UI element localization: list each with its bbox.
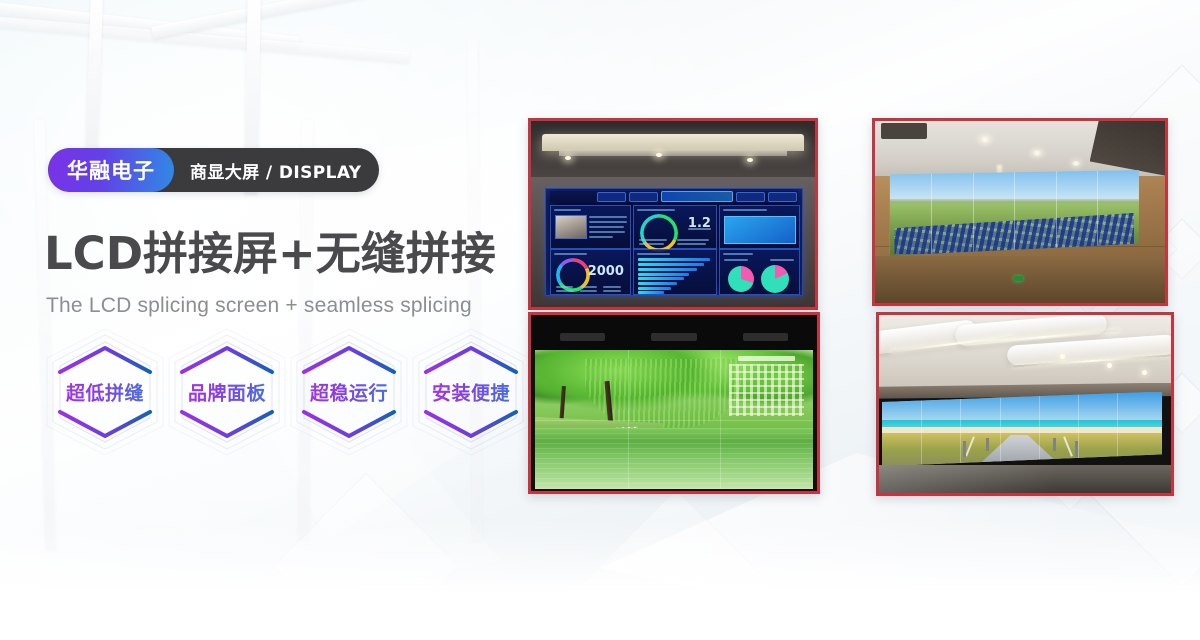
feature-badge-label: 安装便捷 <box>412 379 530 406</box>
feature-badge-1[interactable]: 品牌面板 <box>168 332 286 452</box>
banner-stage: 华融电子 商显大屏 / DISPLAY LCD拼接屏+无缝拼接 The LCD … <box>0 0 1200 640</box>
brand-name: 华融电子 <box>48 148 174 192</box>
ceiling-downlight-2 <box>1107 363 1112 368</box>
photo-beach-boardwalk-video-wall[interactable] <box>876 312 1174 496</box>
feature-badge-2[interactable]: 超稳运行 <box>290 332 408 452</box>
floor-reflection <box>879 465 1171 493</box>
dashboard-panel-bars <box>633 249 717 294</box>
screen-water-ripples <box>535 428 812 489</box>
display-top-bezel <box>531 315 817 352</box>
ceiling-downlight-2 <box>656 153 662 157</box>
feature-badge-0[interactable]: 超低拼缝 <box>46 332 164 452</box>
dashboard-panel-pie: 2000 <box>550 249 631 294</box>
brand-pill: 华融电子 商显大屏 / DISPLAY <box>48 148 379 192</box>
feature-badge-row: 超低拼缝 品牌面板 <box>46 332 530 452</box>
exit-sign-icon <box>1014 276 1023 281</box>
feature-badge-label: 超稳运行 <box>290 379 408 406</box>
ceiling-downlight-3 <box>1142 370 1147 375</box>
display-screen <box>535 350 812 489</box>
background-bottom-fade <box>0 520 1200 640</box>
page-subtitle: The LCD splicing screen + seamless splic… <box>46 294 472 318</box>
feature-badge-3[interactable]: 安装便捷 <box>412 332 530 452</box>
dashboard-screen: 1.2 2000 <box>545 188 803 296</box>
brand-tagline: 商显大屏 / DISPLAY <box>174 148 379 192</box>
screen-calendar-overlay <box>729 356 804 417</box>
page-title: LCD拼接屏+无缝拼接 <box>44 228 496 280</box>
feature-badge-label: 品牌面板 <box>168 379 286 406</box>
ceiling-spot-1 <box>979 136 991 143</box>
dashboard-panel-flow <box>719 205 800 249</box>
video-wall-screen <box>890 170 1139 256</box>
photo-solar-farm-video-wall[interactable] <box>872 118 1168 306</box>
dashboard-panel-donut: 1.2 <box>633 205 717 249</box>
dashboard-header <box>550 191 798 203</box>
photo-control-room-dashboard[interactable]: 1.2 2000 <box>528 118 818 310</box>
feature-badge-label: 超低拼缝 <box>46 379 164 406</box>
video-wall-screen <box>882 392 1162 467</box>
photo-willow-lake-wallpaper[interactable] <box>528 312 820 494</box>
dashboard-panel-donuts <box>719 249 800 294</box>
ceiling-vent <box>881 123 927 139</box>
dashboard-panel-intro <box>550 205 631 249</box>
ceiling-cove-shadow <box>559 149 786 156</box>
ceiling-spot-2 <box>1032 150 1042 156</box>
